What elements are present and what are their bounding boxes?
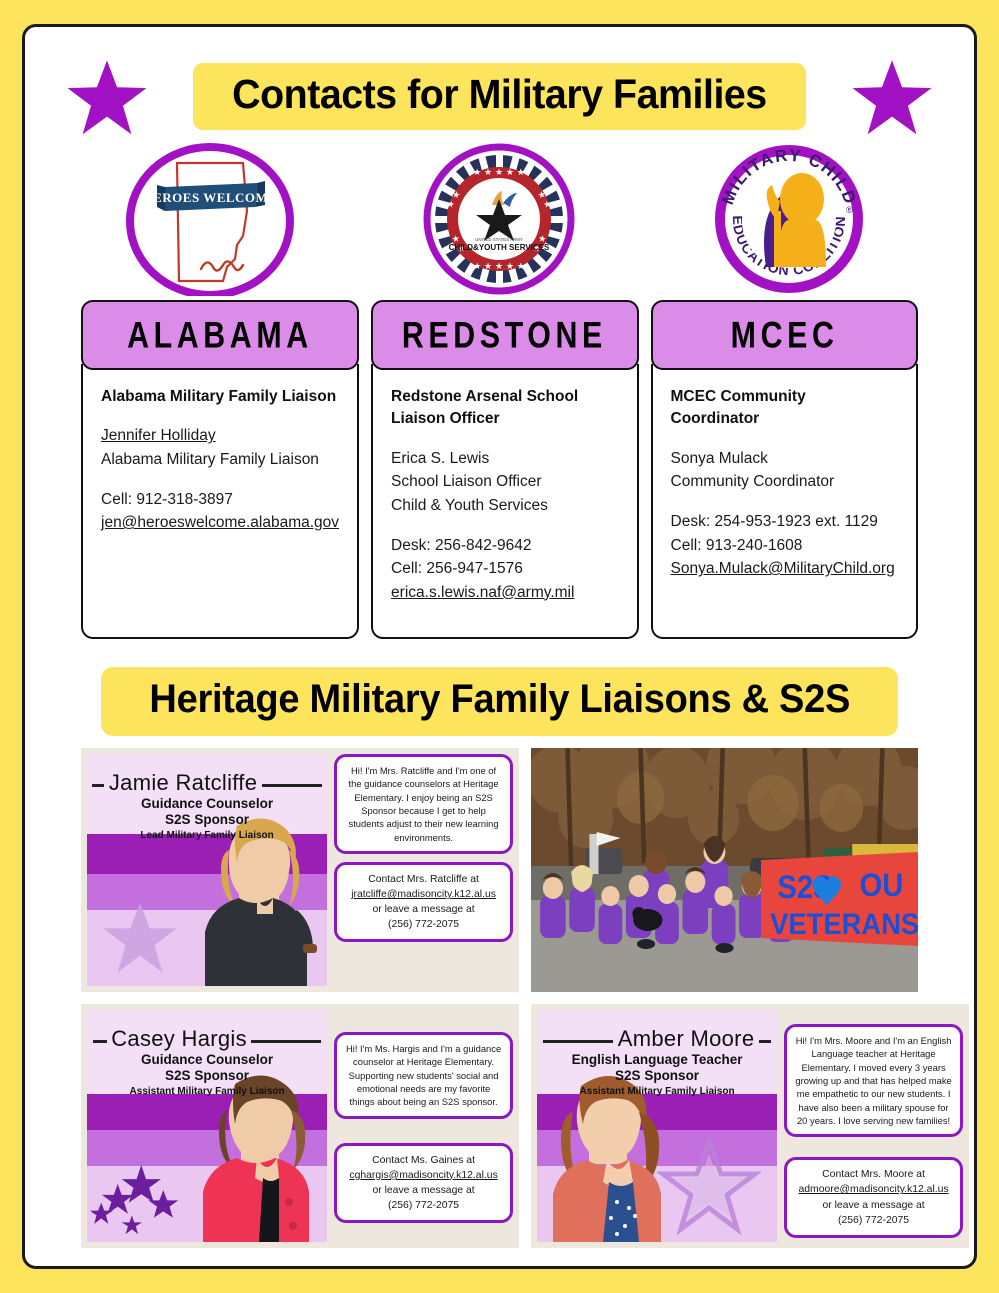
contact-cell: Cell: 913-240-1608 xyxy=(671,534,898,558)
staff-role1: English Language Teacher xyxy=(537,1052,777,1068)
poster-sheet: Contacts for Military Families HEROES WE… xyxy=(22,24,977,1269)
section-header-row: Heritage Military Family Liaisons & S2S xyxy=(25,667,974,736)
contact-bubble-phone: (256) 772-2075 xyxy=(795,1213,952,1228)
contact-cards: ALABAMA Alabama Military Family Liaison … xyxy=(25,300,974,639)
contact-email[interactable]: jen@heroeswelcome.alabama.gov xyxy=(101,511,339,535)
card-role: Alabama Military Family Liaison xyxy=(101,386,339,408)
staff-role1: Guidance Counselor xyxy=(87,796,327,812)
staff-block-hargis: Casey Hargis Guidance Counselor S2S Spon… xyxy=(81,1004,519,1248)
bubble-group: Hi! I'm Ms. Hargis and I'm a guidance co… xyxy=(327,1010,513,1242)
staff-role2: S2S Sponsor xyxy=(87,1068,327,1084)
staff-area: Jamie Ratcliffe Guidance Counselor S2S S… xyxy=(25,736,974,1248)
mcec-logo: MILITARY CHILD EDUCATION COALITION ® xyxy=(694,141,884,296)
card-tab-label: REDSTONE xyxy=(402,314,607,357)
contact-card-alabama: ALABAMA Alabama Military Family Liaison … xyxy=(81,300,359,639)
contact-bubble-line3: or leave a message at xyxy=(795,1198,952,1213)
card-role: MCEC Community Coordinator xyxy=(671,386,898,431)
portrait-name-block: Jamie Ratcliffe Guidance Counselor S2S S… xyxy=(87,770,327,842)
section-title-pill: Heritage Military Family Liaisons & S2S xyxy=(101,667,898,736)
contact-bubble-email[interactable]: admoore@madisoncity.k12.al.us xyxy=(795,1182,952,1197)
banner-text-2: OU xyxy=(860,868,904,904)
card-body-mcec: MCEC Community Coordinator Sonya Mulack … xyxy=(651,364,918,639)
contact-bubble-line1: Contact Ms. Gaines at xyxy=(345,1153,502,1168)
staff-role2: S2S Sponsor xyxy=(87,812,327,828)
banner: S2S OU VETERANS xyxy=(761,852,918,946)
card-tab-label: MCEC xyxy=(730,314,838,357)
bubble-group: Hi! I'm Mrs. Moore and I'm an English La… xyxy=(777,1010,963,1242)
card-body-alabama: Alabama Military Family Liaison Jennifer… xyxy=(81,364,359,639)
contact-bubble-phone: (256) 772-2075 xyxy=(345,1198,502,1213)
contact-bubble: Contact Mrs. Ratcliffe at jratcliffe@mad… xyxy=(334,862,513,942)
contact-title: Community Coordinator xyxy=(671,470,898,494)
card-tab-mcec: MCEC xyxy=(651,300,918,370)
staff-name: Amber Moore xyxy=(618,1026,755,1051)
contact-department: Child & Youth Services xyxy=(391,494,618,518)
staff-role1: Guidance Counselor xyxy=(87,1052,327,1068)
portrait-card-moore: Amber Moore English Language Teacher S2S… xyxy=(537,1010,777,1242)
svg-text:★ ★ ★ ★ ★: ★ ★ ★ ★ ★ xyxy=(474,168,526,178)
s2s-veterans-parade-photo: S2S OU VETERANS xyxy=(531,748,918,992)
portrait-name-block: Amber Moore English Language Teacher S2S… xyxy=(537,1026,777,1098)
staff-name: Jamie Ratcliffe xyxy=(109,770,257,795)
staff-role3: Assistant Military Family Liaison xyxy=(87,1085,327,1098)
contact-bubble-line1: Contact Mrs. Moore at xyxy=(795,1167,952,1182)
contact-bubble-line3: or leave a message at xyxy=(345,902,502,917)
contact-bubble: Contact Mrs. Moore at admoore@madisoncit… xyxy=(784,1157,963,1237)
banner-text-3: VETERANS xyxy=(770,908,918,941)
contact-desk: Desk: 254-953-1923 ext. 1129 xyxy=(671,510,898,534)
contact-bubble-phone: (256) 772-2075 xyxy=(345,917,502,932)
contact-title: School Liaison Officer xyxy=(391,470,618,494)
staff-name: Casey Hargis xyxy=(111,1026,247,1051)
contact-bubble-email[interactable]: jratcliffe@madisoncity.k12.al.us xyxy=(345,887,502,902)
staff-role2: S2S Sponsor xyxy=(537,1068,777,1084)
intro-bubble: Hi! I'm Mrs. Moore and I'm an English La… xyxy=(784,1024,963,1137)
intro-bubble: Hi! I'm Ms. Hargis and I'm a guidance co… xyxy=(334,1032,513,1119)
contact-name[interactable]: Jennifer Holliday xyxy=(101,424,339,448)
contact-bubble-line3: or leave a message at xyxy=(345,1183,502,1198)
page-title-pill: Contacts for Military Families xyxy=(193,63,806,130)
staff-role3: Lead Military Family Liaison xyxy=(87,829,327,842)
contact-email[interactable]: Sonya.Mulack@MilitaryChild.org xyxy=(671,557,898,581)
contact-title: Alabama Military Family Liaison xyxy=(101,448,339,472)
contact-card-redstone: REDSTONE Redstone Arsenal School Liaison… xyxy=(371,300,638,639)
portrait-name-block: Casey Hargis Guidance Counselor S2S Spon… xyxy=(87,1026,327,1098)
poster-page: Contacts for Military Families HEROES WE… xyxy=(0,0,999,1293)
portrait-card-hargis: Casey Hargis Guidance Counselor S2S Spon… xyxy=(87,1010,327,1242)
staff-block-moore: Amber Moore English Language Teacher S2S… xyxy=(531,1004,969,1248)
contact-name: Erica S. Lewis xyxy=(391,447,618,471)
us-army-child-youth-services-logo: ★ ★ ★ ★ ★ ★ ★ ★ ★ ★ ★ ★ ★ ★ ★ ★ ★ ★ UNIT… xyxy=(404,141,594,296)
staff-row: Jamie Ratcliffe Guidance Counselor S2S S… xyxy=(81,748,918,992)
logo-line2: CHILD&YOUTH SERVICES xyxy=(449,243,550,252)
card-tab-redstone: REDSTONE xyxy=(371,300,638,370)
contact-name: Sonya Mulack xyxy=(671,447,898,471)
contact-bubble-line1: Contact Mrs. Ratcliffe at xyxy=(345,872,502,887)
title-row: Contacts for Military Families xyxy=(25,51,974,141)
staff-block-ratcliffe: Jamie Ratcliffe Guidance Counselor S2S S… xyxy=(81,748,519,992)
star-decor-icon xyxy=(97,898,183,978)
portrait-card-ratcliffe: Jamie Ratcliffe Guidance Counselor S2S S… xyxy=(87,754,327,986)
svg-text:HEROES WELCOME: HEROES WELCOME xyxy=(142,190,277,205)
star-icon xyxy=(65,57,149,146)
card-role: Redstone Arsenal School Liaison Officer xyxy=(391,386,618,431)
star-icon xyxy=(850,57,934,146)
card-tab-alabama: ALABAMA xyxy=(81,300,359,370)
bubble-group: Hi! I'm Mrs. Ratcliffe and I'm one of th… xyxy=(327,754,513,986)
contact-cell: Cell: 256-947-1576 xyxy=(391,557,618,581)
logo-row: HEROES WELCOME xyxy=(25,141,974,296)
svg-text:★ ★ ★ ★ ★: ★ ★ ★ ★ ★ xyxy=(474,262,526,272)
contact-email[interactable]: erica.s.lewis.naf@army.mil xyxy=(391,581,618,605)
logo-line1: UNITED STATES ARMY xyxy=(476,237,524,242)
card-tab-label: ALABAMA xyxy=(127,314,313,357)
alabama-heroes-welcome-logo: HEROES WELCOME xyxy=(115,141,305,296)
svg-text:®: ® xyxy=(846,205,853,215)
contact-desk: Desk: 256-842-9642 xyxy=(391,534,618,558)
contact-card-mcec: MCEC MCEC Community Coordinator Sonya Mu… xyxy=(651,300,918,639)
page-title: Contacts for Military Families xyxy=(232,71,767,118)
section-title: Heritage Military Family Liaisons & S2S xyxy=(149,677,850,722)
intro-bubble: Hi! I'm Mrs. Ratcliffe and I'm one of th… xyxy=(334,754,513,854)
card-body-redstone: Redstone Arsenal School Liaison Officer … xyxy=(371,364,638,639)
contact-cell: Cell: 912-318-3897 xyxy=(101,488,339,512)
contact-bubble-email[interactable]: cghargis@madisoncity.k12.al.us xyxy=(345,1168,502,1183)
contact-bubble: Contact Ms. Gaines at cghargis@madisonci… xyxy=(334,1143,513,1223)
staff-row: Casey Hargis Guidance Counselor S2S Spon… xyxy=(81,1004,918,1248)
staff-role3: Assistant Military Family Liaison xyxy=(537,1085,777,1098)
